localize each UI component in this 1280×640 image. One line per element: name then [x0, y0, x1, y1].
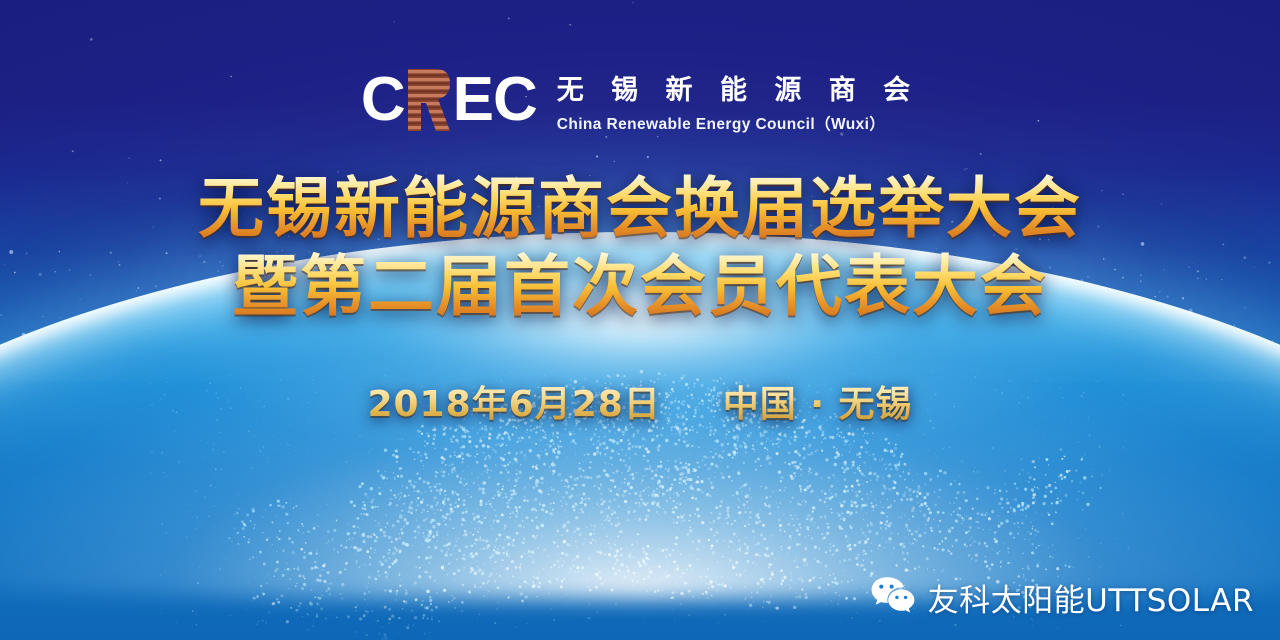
- event-venue: 中国 · 无锡: [723, 375, 913, 427]
- watermark-label: 友科太阳能UTTSOLAR: [928, 575, 1254, 620]
- headline-line-1: 无锡新能源商会换届选举大会: [0, 170, 1280, 248]
- headline-line-2: 暨第二届首次会员代表大会: [0, 248, 1280, 326]
- crec-logo: C: [0, 66, 1280, 134]
- logo-letter-r-striped: [406, 69, 452, 131]
- poster-meta: 2018年6月28日 中国 · 无锡: [0, 375, 1280, 427]
- logo-letter-c1: C: [361, 69, 405, 131]
- logo-english-name: China Renewable Energy Council（Wuxi）: [557, 112, 919, 134]
- crec-logo-mark: C: [361, 69, 537, 131]
- poster-headline: 无锡新能源商会换届选举大会 暨第二届首次会员代表大会: [0, 170, 1280, 326]
- wechat-watermark: 友科太阳能UTTSOLAR: [870, 575, 1254, 620]
- logo-letter-c2: C: [493, 69, 537, 131]
- crec-logo-text: 无 锡 新 能 源 商 会 China Renewable Energy Cou…: [557, 66, 919, 134]
- logo-chinese-name: 无 锡 新 能 源 商 会: [557, 68, 919, 107]
- logo-letter-e: E: [453, 69, 493, 131]
- conference-poster: C: [0, 0, 1280, 640]
- wechat-icon: [870, 575, 916, 620]
- event-date: 2018年6月28日: [367, 375, 660, 427]
